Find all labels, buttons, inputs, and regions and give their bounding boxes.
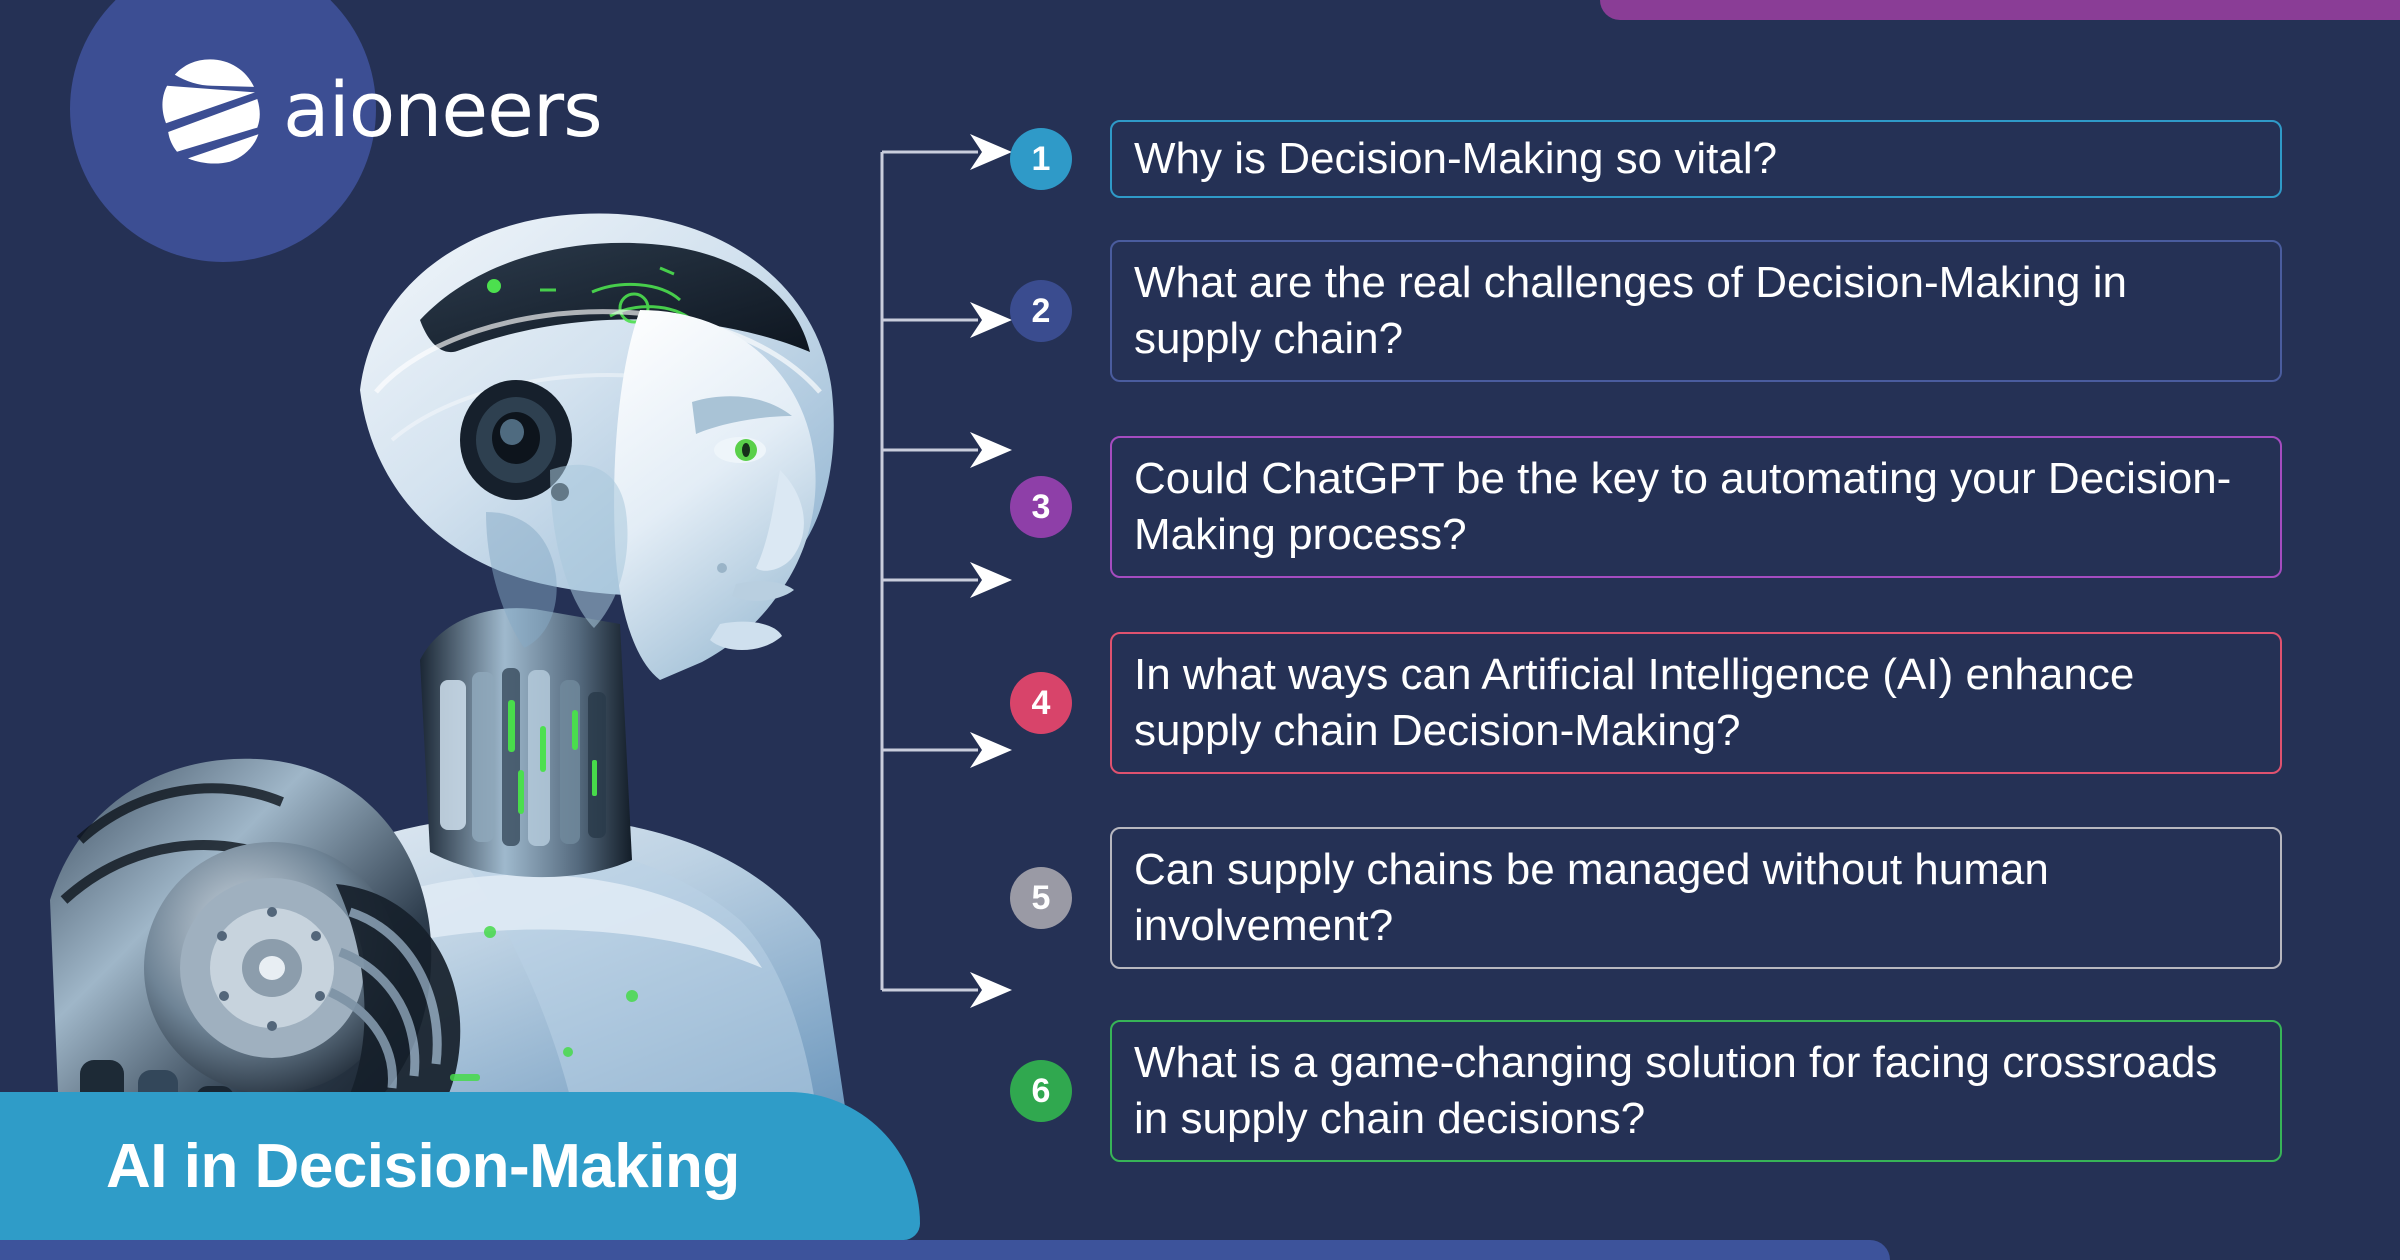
item-badge-3: 3 <box>1010 476 1072 538</box>
question-box-2[interactable]: What are the real challenges of Decision… <box>1110 240 2282 382</box>
item-badge-4: 4 <box>1010 672 1072 734</box>
infographic-canvas: aioneers 1 Why is Decision-Making so vit… <box>0 0 2400 1260</box>
question-box-3[interactable]: Could ChatGPT be the key to automating y… <box>1110 436 2282 578</box>
question-text-6: What is a game-changing solution for fac… <box>1134 1035 2258 1148</box>
top-right-accent-bar <box>1600 0 2400 20</box>
question-box-1[interactable]: Why is Decision-Making so vital? <box>1110 120 2282 198</box>
question-box-6[interactable]: What is a game-changing solution for fac… <box>1110 1020 2282 1162</box>
aioneers-logo-icon <box>155 55 265 165</box>
list-item[interactable]: 3 Could ChatGPT be the key to automating… <box>1010 436 2282 578</box>
list-item[interactable]: 1 Why is Decision-Making so vital? <box>1010 120 2282 198</box>
item-badge-2: 2 <box>1010 280 1072 342</box>
item-badge-1: 1 <box>1010 128 1072 190</box>
item-badge-5: 5 <box>1010 867 1072 929</box>
brand-wordmark: aioneers <box>283 72 602 148</box>
question-text-2: What are the real challenges of Decision… <box>1134 255 2258 368</box>
question-box-5[interactable]: Can supply chains be managed without hum… <box>1110 827 2282 969</box>
question-text-5: Can supply chains be managed without hum… <box>1134 842 2258 955</box>
list-item[interactable]: 4 In what ways can Artificial Intelligen… <box>1010 632 2282 774</box>
question-box-4[interactable]: In what ways can Artificial Intelligence… <box>1110 632 2282 774</box>
list-item[interactable]: 2 What are the real challenges of Decisi… <box>1010 240 2282 382</box>
question-text-1: Why is Decision-Making so vital? <box>1134 131 1777 187</box>
list-item[interactable]: 6 What is a game-changing solution for f… <box>1010 1020 2282 1162</box>
item-badge-6: 6 <box>1010 1060 1072 1122</box>
question-text-3: Could ChatGPT be the key to automating y… <box>1134 451 2258 564</box>
list-item[interactable]: 5 Can supply chains be managed without h… <box>1010 827 2282 969</box>
page-title: AI in Decision-Making <box>106 1131 740 1202</box>
bottom-left-accent-bar <box>0 1240 1890 1260</box>
humanoid-robot-image <box>20 140 900 1140</box>
question-text-4: In what ways can Artificial Intelligence… <box>1134 647 2258 760</box>
brand-logo[interactable]: aioneers <box>155 55 602 165</box>
title-banner: AI in Decision-Making <box>0 1092 920 1240</box>
